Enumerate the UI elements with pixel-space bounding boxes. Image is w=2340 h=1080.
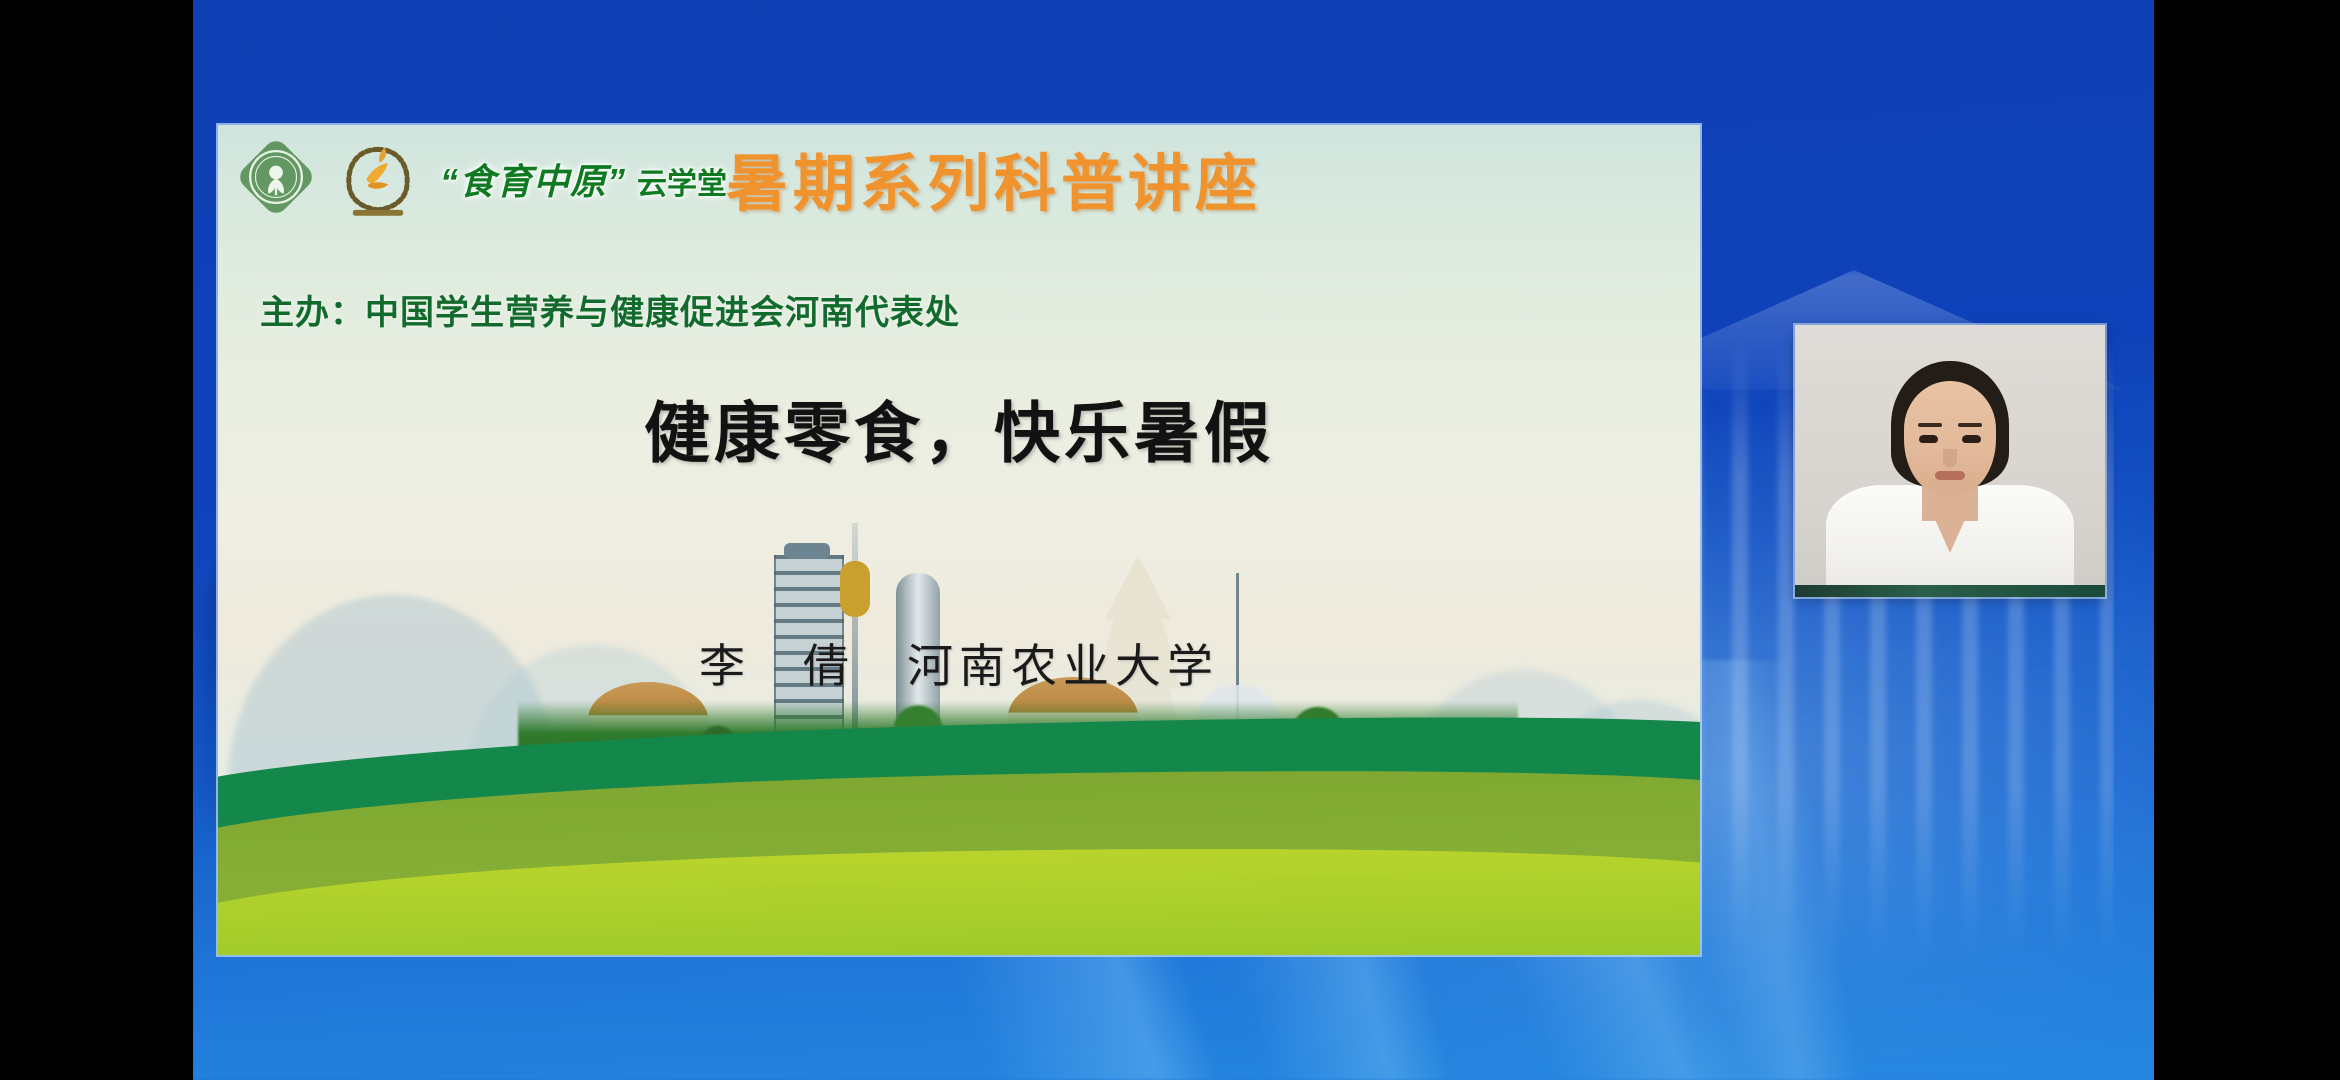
slide-presenter-line: 李 倩 河南农业大学 bbox=[218, 630, 1700, 696]
letterbox-bar-right bbox=[2154, 0, 2340, 1080]
presenter-eye bbox=[1962, 435, 1981, 443]
presenter-nose bbox=[1943, 449, 1957, 467]
presenter-mouth bbox=[1935, 471, 1965, 480]
presenter-eye bbox=[1919, 435, 1938, 443]
presentation-slide[interactable]: “食育中原” 云学堂 暑期系列科普讲座 主办：中国学生营养与健康促进会河南代表处… bbox=[218, 125, 1700, 955]
slide-main-title: 健康零食，快乐暑假 bbox=[218, 380, 1700, 476]
brand-quoted-text: “食育中原” bbox=[440, 161, 626, 202]
slide-organizer-line: 主办：中国学生营养与健康促进会河南代表处 bbox=[260, 285, 960, 334]
slide-header: “食育中原” 云学堂 暑期系列科普讲座 bbox=[218, 125, 1700, 265]
green-seal-logo bbox=[238, 139, 314, 215]
slide-series-title: 暑期系列科普讲座 bbox=[726, 133, 1262, 223]
brand-cloud-classroom: “食育中原” 云学堂 bbox=[440, 153, 727, 205]
presenter-face bbox=[1904, 381, 1996, 495]
presenter-eyebrow bbox=[1918, 423, 1942, 427]
presenter-webcam-thumbnail[interactable] bbox=[1795, 325, 2105, 597]
spire-ornament bbox=[840, 561, 870, 617]
laurel-wreath-torch-logo bbox=[336, 135, 420, 221]
video-stream-frame: “食育中原” 云学堂 暑期系列科普讲座 主办：中国学生营养与健康促进会河南代表处… bbox=[0, 0, 2340, 1080]
presenter-desk-edge bbox=[1795, 585, 2105, 597]
presenter-eyebrow bbox=[1958, 423, 1982, 427]
letterbox-bar-left bbox=[0, 0, 193, 1080]
brand-cloud-classroom-text: 云学堂 bbox=[637, 168, 727, 201]
grid-tower-cap bbox=[784, 543, 830, 559]
